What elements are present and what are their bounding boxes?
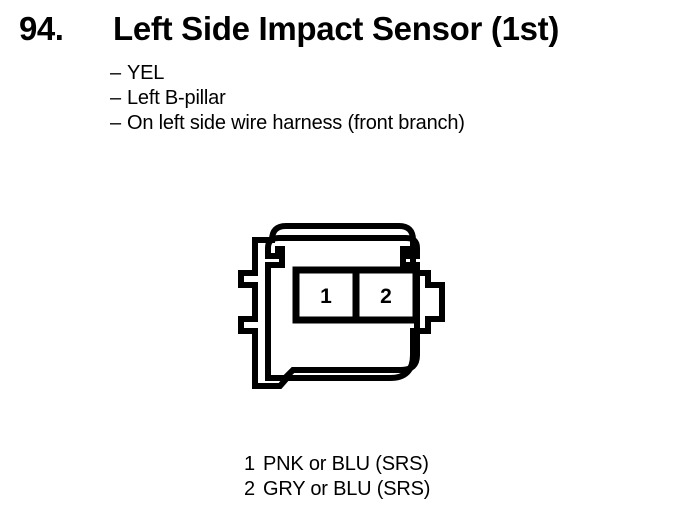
connector-diagram: 1 2 — [225, 215, 475, 400]
detail-item-label: Left B-pillar — [127, 86, 226, 111]
header-block: 94. Left Side Impact Sensor (1st) – YEL … — [0, 0, 688, 160]
legend-row: 2 GRY or BLU (SRS) — [244, 477, 574, 502]
cavity-label-1: 1 — [320, 285, 332, 308]
page-title: Left Side Impact Sensor (1st) — [113, 9, 559, 49]
detail-item-location: – Left B-pillar — [110, 86, 670, 111]
detail-item-harness: – On left side wire harness (front branc… — [110, 111, 670, 136]
cavity-label-2: 2 — [380, 285, 392, 308]
legend-pin-number: 1 — [244, 452, 263, 477]
legend-row: 1 PNK or BLU (SRS) — [244, 452, 574, 477]
dash-icon: – — [110, 86, 127, 111]
dash-icon: – — [110, 111, 127, 136]
dash-icon: – — [110, 61, 127, 86]
legend-pin-description: GRY or BLU (SRS) — [263, 477, 430, 502]
legend-pin-number: 2 — [244, 477, 263, 502]
detail-item-label: On left side wire harness (front branch) — [127, 111, 465, 136]
detail-item-label: YEL — [127, 61, 164, 86]
detail-list: – YEL – Left B-pillar – On left side wir… — [110, 61, 670, 136]
legend-pin-description: PNK or BLU (SRS) — [263, 452, 429, 477]
item-number: 94. — [19, 9, 63, 49]
pin-legend: 1 PNK or BLU (SRS) 2 GRY or BLU (SRS) — [244, 452, 574, 502]
terminal-cavity-block: 1 2 — [296, 270, 416, 320]
detail-item-wire-color: – YEL — [110, 61, 670, 86]
